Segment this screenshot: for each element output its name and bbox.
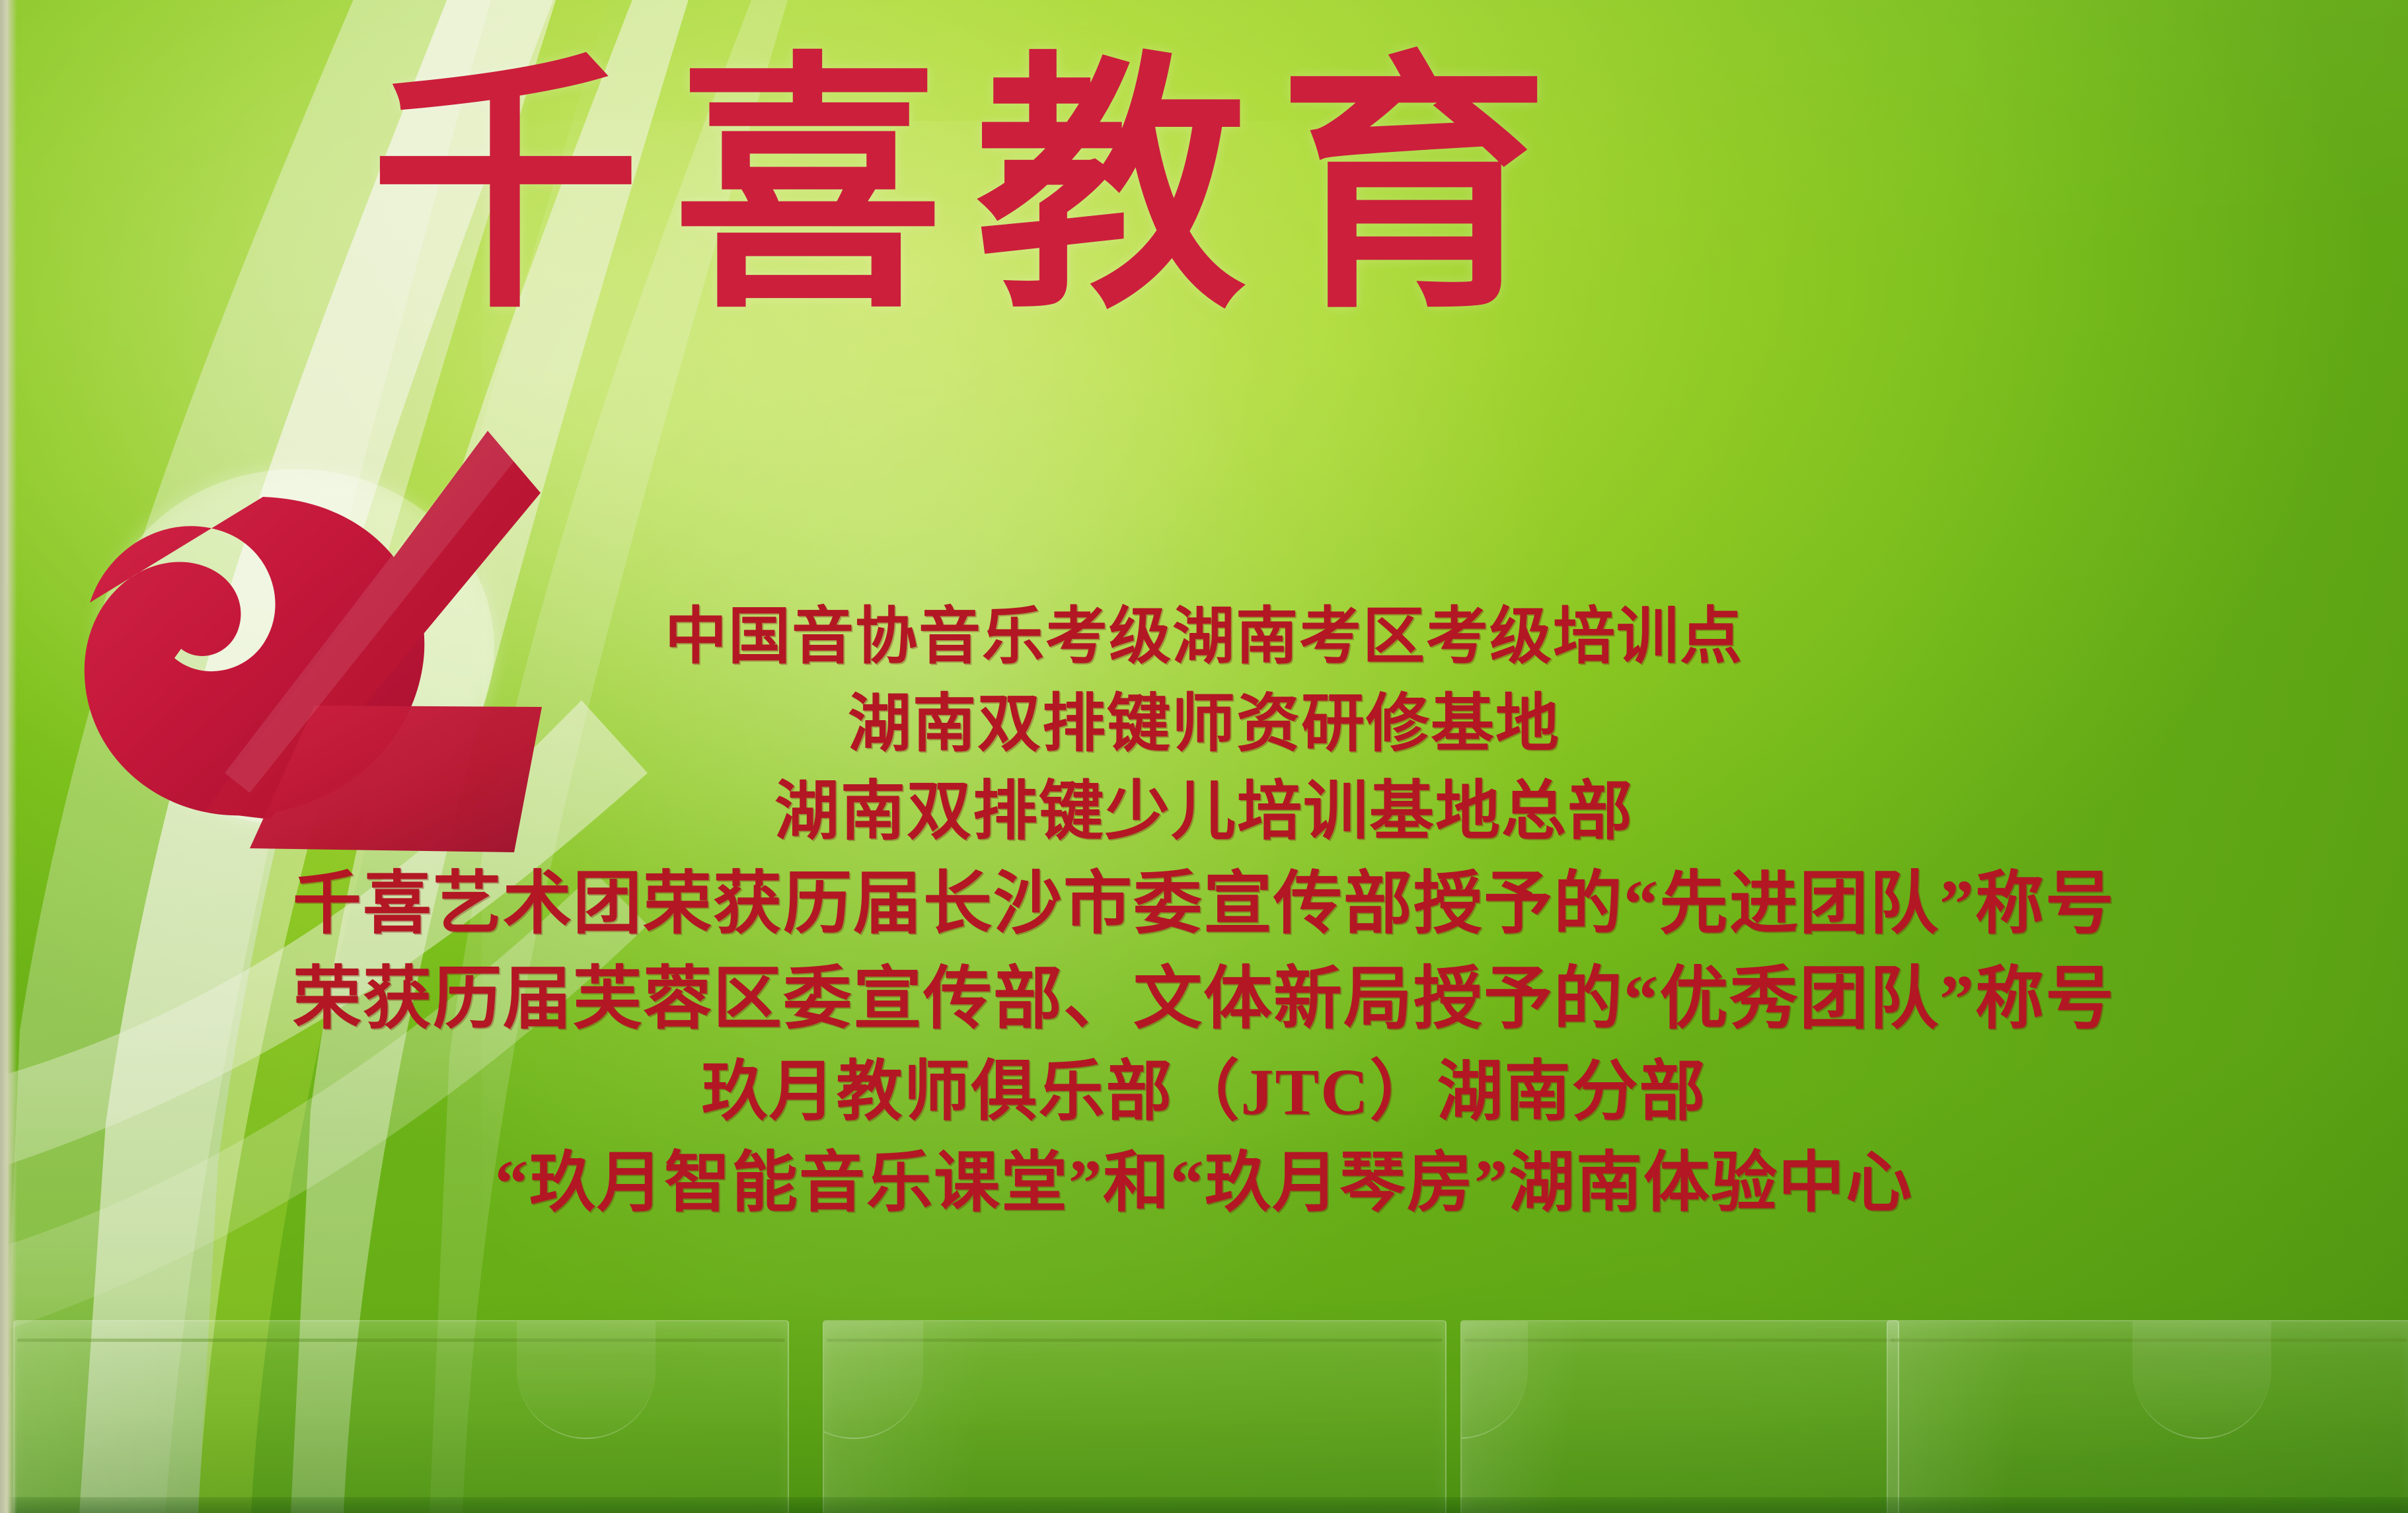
brochure-holder[interactable] bbox=[823, 1320, 1447, 1513]
floor-shadow-strip bbox=[0, 1497, 2408, 1513]
credential-line: 千喜艺术团荣获历届长沙市委宣传部授予的“先进团队”称号 bbox=[0, 857, 2408, 952]
holder-notch bbox=[517, 1320, 656, 1439]
credential-line: 玖月教师俱乐部（JTC）湖南分部 bbox=[0, 1047, 2408, 1138]
page-title: 千喜教育 bbox=[370, 52, 2062, 328]
brochure-holder[interactable] bbox=[13, 1320, 789, 1513]
credential-line: 湖南双排键师资研修基地 bbox=[0, 681, 2408, 768]
holder-notch bbox=[2132, 1320, 2271, 1439]
holder-sheen bbox=[1887, 1320, 2035, 1513]
holder-sheen bbox=[13, 1320, 223, 1513]
holder-sheen bbox=[823, 1320, 995, 1513]
credential-line: 湖南双排键少儿培训基地总部 bbox=[0, 768, 2408, 857]
brochure-holder[interactable] bbox=[1460, 1320, 1899, 1513]
signage-wall-photo: 千喜教育 中国音协音乐考级湖南考区考级培训点 湖南双排键师资研修基地 湖南双排键… bbox=[0, 0, 2408, 1513]
credential-line: 中国音协音乐考级湖南考区考级培训点 bbox=[0, 595, 2408, 681]
wall-edge-left bbox=[0, 0, 17, 1513]
credential-line: 荣获历届芙蓉区委宣传部、文体新局授予的“优秀团队”称号 bbox=[0, 952, 2408, 1047]
credential-line: “玖月智能音乐课堂”和“玖月琴房”湖南体验中心 bbox=[0, 1138, 2408, 1229]
brochure-holder[interactable] bbox=[1887, 1320, 2408, 1513]
holder-sheen bbox=[1460, 1320, 1587, 1513]
brochure-holder-row bbox=[0, 1315, 2408, 1513]
credentials-list: 中国音协音乐考级湖南考区考级培训点 湖南双排键师资研修基地 湖南双排键少儿培训基… bbox=[0, 595, 2408, 1229]
